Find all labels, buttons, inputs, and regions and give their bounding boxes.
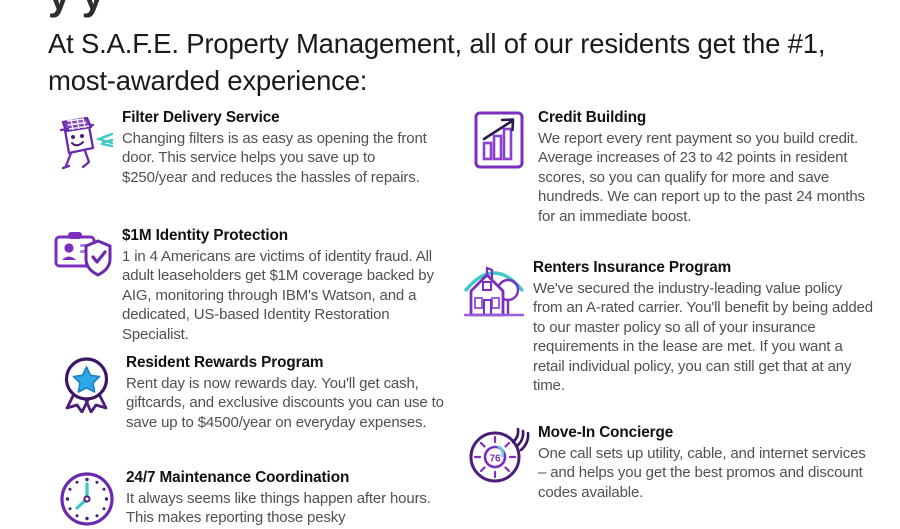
feature-title: Renters Insurance Program xyxy=(533,258,873,278)
award-medal-star-icon xyxy=(48,353,126,413)
feature-item: 76 Move-In Concierge xyxy=(460,423,870,502)
feature-item: Filter Delivery Service Changing filters… xyxy=(44,108,444,187)
feature-title: Move-In Concierge xyxy=(538,423,870,443)
clock-icon xyxy=(48,468,126,528)
feature-title: Resident Rewards Program xyxy=(126,353,448,373)
feature-title: 24/7 Maintenance Coordination xyxy=(126,468,448,488)
feature-description: One call sets up utility, cable, and int… xyxy=(538,444,870,503)
house-protection-icon xyxy=(455,258,533,324)
feature-title: Credit Building xyxy=(538,108,870,128)
feature-body: 24/7 Maintenance Coordination It always … xyxy=(126,468,448,528)
alarm-signal-icon: 76 xyxy=(460,423,538,485)
feature-item: $1M Identity Protection 1 in 4 Americans… xyxy=(44,226,448,344)
feature-title: Filter Delivery Service xyxy=(122,108,444,128)
features-columns: Filter Delivery Service Changing filters… xyxy=(0,108,900,529)
clipped-heading-fragment: y y xyxy=(48,0,104,19)
feature-item: Credit Building We report every rent pay… xyxy=(460,108,870,226)
svg-text:76: 76 xyxy=(489,454,501,465)
feature-title: $1M Identity Protection xyxy=(122,226,448,246)
bar-chart-growth-icon xyxy=(460,108,538,170)
feature-body: Filter Delivery Service Changing filters… xyxy=(122,108,444,187)
features-column-left: Filter Delivery Service Changing filters… xyxy=(0,108,452,529)
feature-description: We report every rent payment so you buil… xyxy=(538,129,870,227)
feature-description: Rent day is now rewards day. You'll get … xyxy=(126,374,448,433)
feature-item: 24/7 Maintenance Coordination It always … xyxy=(48,468,448,528)
feature-description: 1 in 4 Americans are victims of identity… xyxy=(122,247,448,345)
air-filter-character-icon xyxy=(44,108,122,172)
feature-item: Resident Rewards Program Rent day is now… xyxy=(48,353,448,432)
feature-body: Resident Rewards Program Rent day is now… xyxy=(126,353,448,432)
feature-item: Renters Insurance Program We've secured … xyxy=(455,258,873,396)
feature-description: We've secured the industry-leading value… xyxy=(533,279,873,396)
id-badge-shield-icon xyxy=(44,226,122,280)
feature-body: Credit Building We report every rent pay… xyxy=(538,108,870,226)
feature-body: Move-In Concierge One call sets up utili… xyxy=(538,423,870,502)
feature-body: $1M Identity Protection 1 in 4 Americans… xyxy=(122,226,448,344)
feature-body: Renters Insurance Program We've secured … xyxy=(533,258,873,396)
feature-description: It always seems like things happen after… xyxy=(126,489,448,528)
feature-description: Changing filters is as easy as opening t… xyxy=(122,129,444,188)
features-column-right: Credit Building We report every rent pay… xyxy=(452,108,900,529)
page-headline: At S.A.F.E. Property Management, all of … xyxy=(48,26,868,99)
